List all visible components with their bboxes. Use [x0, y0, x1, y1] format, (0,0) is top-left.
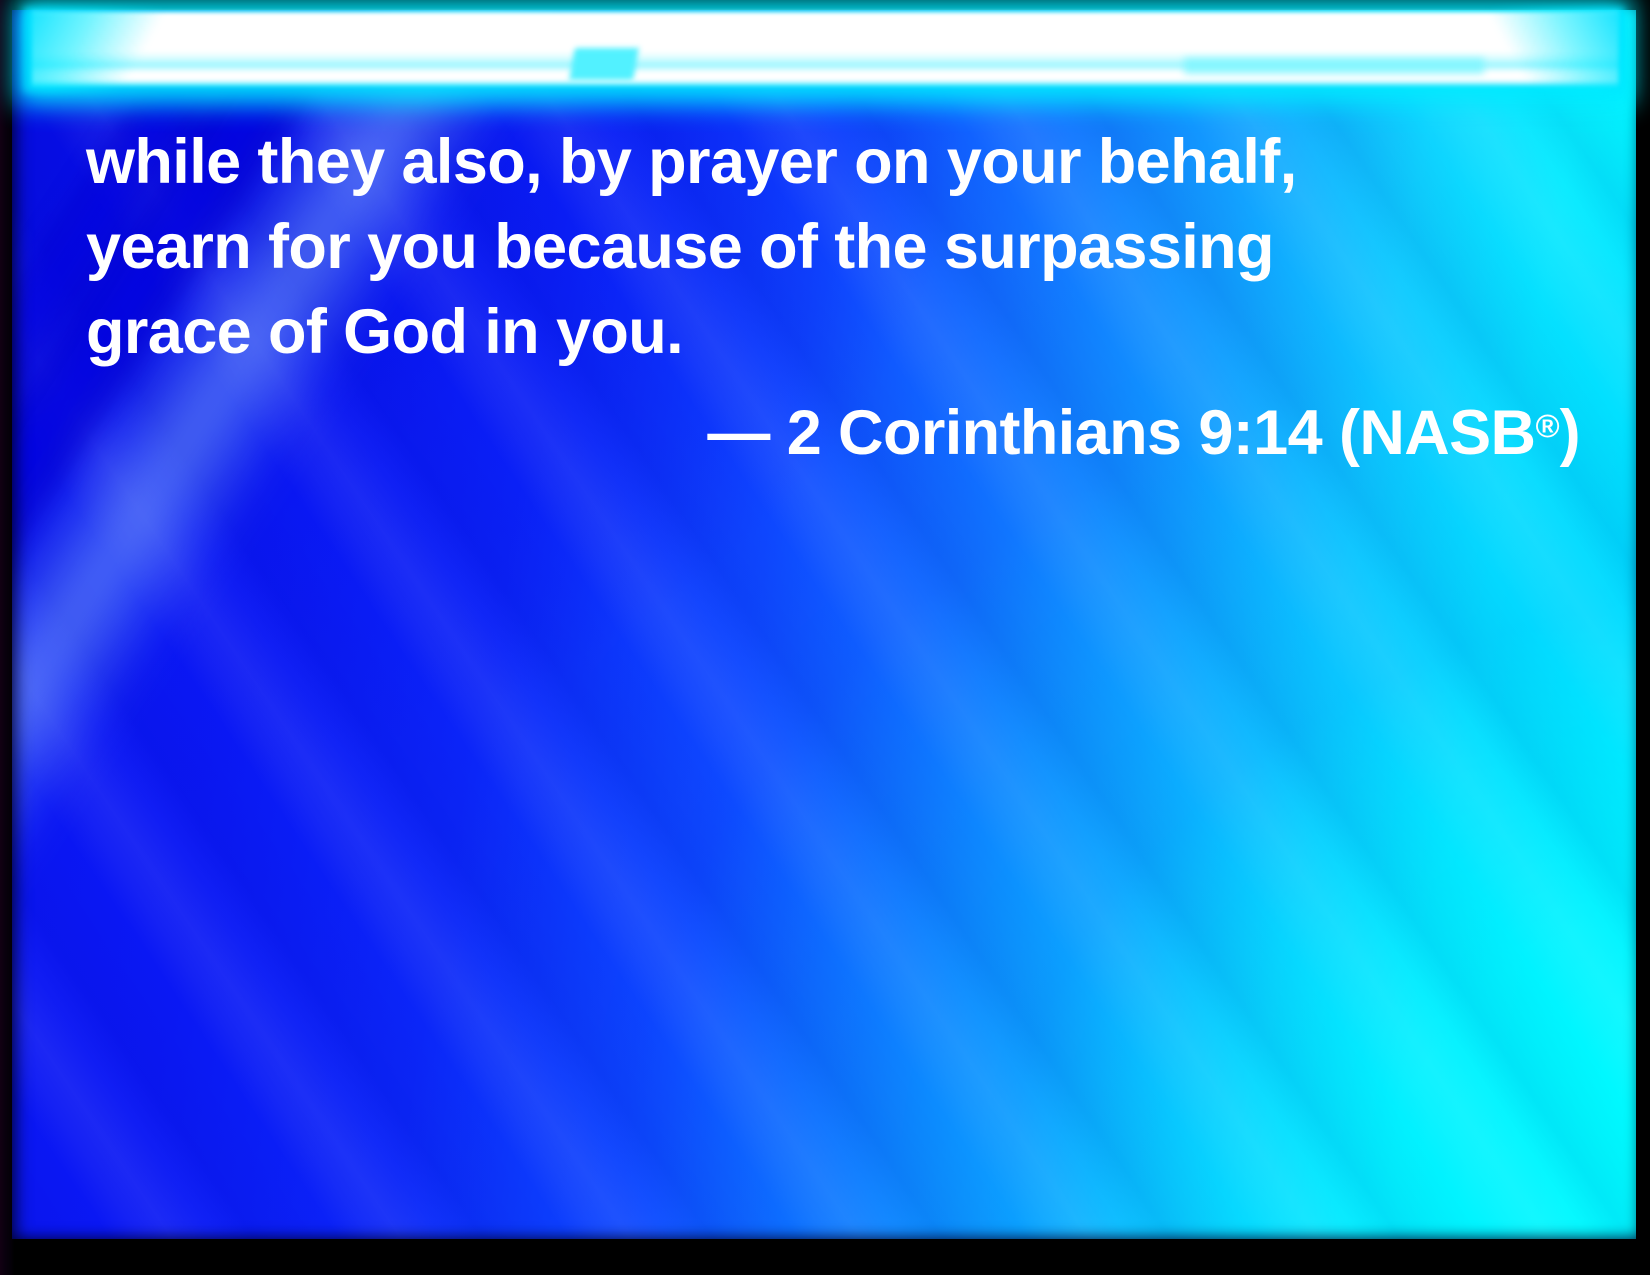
top-bar-sheet — [32, 12, 1618, 86]
top-bar-wisp — [1184, 58, 1484, 74]
top-highlight-bar — [24, 8, 1624, 92]
verse-line-1: while they also, by prayer on your behal… — [86, 120, 1590, 205]
citation-dash: — — [707, 398, 769, 468]
verse-citation: — 2 Corinthians 9:14 (NASB®) — [86, 383, 1590, 476]
top-bar-left-bevel — [24, 8, 254, 92]
verse-line-3: grace of God in you. — [86, 290, 1590, 375]
top-bar-right-bevel — [1414, 8, 1624, 92]
verse-line-2: yearn for you because of the surpassing — [86, 205, 1590, 290]
citation-book: 2 Corinthians — [787, 398, 1182, 468]
top-bar-notch — [569, 48, 639, 80]
verse-text-block: while they also, by prayer on your behal… — [86, 120, 1590, 476]
verse-slide: while they also, by prayer on your behal… — [0, 0, 1650, 1275]
citation-translation-close: ) — [1560, 398, 1580, 468]
citation-translation-open: (NASB — [1339, 398, 1536, 468]
citation-chapter-verse: 9:14 — [1198, 398, 1322, 468]
registered-trademark-icon: ® — [1535, 407, 1559, 444]
